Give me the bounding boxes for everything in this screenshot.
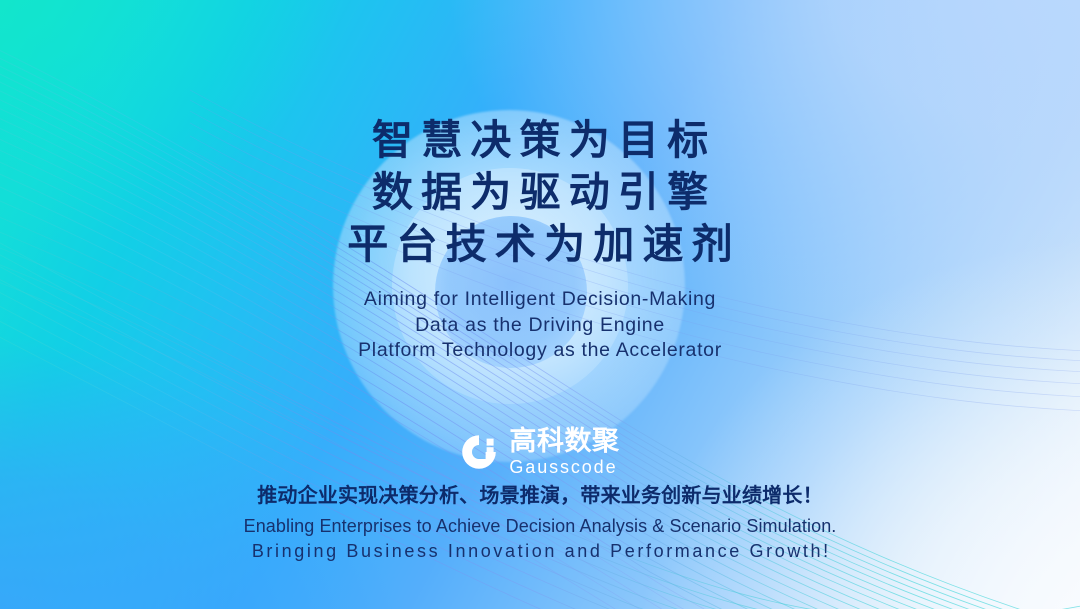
footer-line-en-2: Bringing Business Innovation and Perform…: [0, 539, 1080, 564]
subtitle-line-2: Data as the Driving Engine: [0, 313, 1080, 339]
logo-wordmark: 高科数聚 Gausscode: [509, 428, 619, 476]
logo-name-en: Gausscode: [509, 458, 619, 476]
poster-content: 智慧决策为目标 数据为驱动引擎 平台技术为加速剂 Aiming for Inte…: [0, 0, 1080, 609]
gausscode-g-mark-icon: [460, 433, 498, 471]
subtitle-line-1: Aiming for Intelligent Decision-Making: [0, 287, 1080, 313]
headline-line-1: 智慧决策为目标: [0, 114, 1080, 166]
subtitle-line-3: Platform Technology as the Accelerator: [0, 338, 1080, 364]
headline-block: 智慧决策为目标 数据为驱动引擎 平台技术为加速剂: [0, 114, 1080, 270]
company-logo: 高科数聚 Gausscode: [0, 428, 1080, 476]
headline-line-2: 数据为驱动引擎: [0, 166, 1080, 218]
footer-line-en-1: Enabling Enterprises to Achieve Decision…: [0, 514, 1080, 539]
footer-block: 推动企业实现决策分析、场景推演，带来业务创新与业绩增长！ Enabling En…: [0, 482, 1080, 564]
poster-canvas: 智慧决策为目标 数据为驱动引擎 平台技术为加速剂 Aiming for Inte…: [0, 0, 1080, 609]
logo-name-cn: 高科数聚: [509, 428, 619, 455]
headline-line-3: 平台技术为加速剂: [0, 218, 1080, 270]
footer-line-cn: 推动企业实现决策分析、场景推演，带来业务创新与业绩增长！: [0, 482, 1080, 509]
subtitle-block: Aiming for Intelligent Decision-Making D…: [0, 287, 1080, 364]
